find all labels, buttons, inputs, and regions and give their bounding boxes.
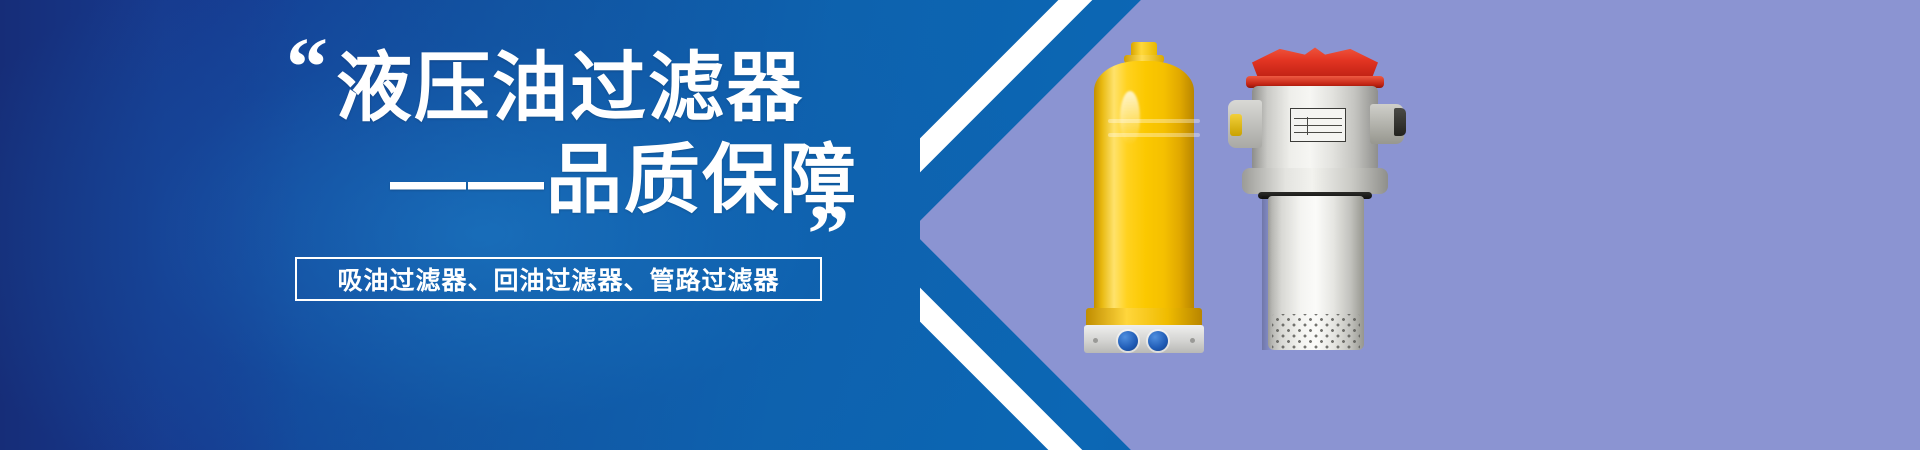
diamond-decoration (920, 0, 1920, 450)
yellow-filter-ring-lower (1108, 133, 1200, 137)
yellow-filter-port-1 (1118, 331, 1138, 351)
grey-filter-right-port-plug (1394, 108, 1406, 136)
quote-open-icon: “ (286, 26, 328, 110)
grey-filter-nameplate (1290, 108, 1346, 142)
headline-block: “ 液压油过滤器 ——品质保障 „ (280, 22, 880, 282)
headline-line-1: 液压油过滤器 (336, 48, 804, 130)
yellow-filter-body (1094, 61, 1194, 313)
yellow-filter-port-2 (1148, 331, 1168, 351)
grey-filter-mount-flange (1242, 168, 1388, 194)
yellow-filter-bolt-left (1093, 338, 1098, 343)
headline-line-2: ——品质保障 (390, 140, 858, 222)
product-image-yellow-hydraulic-filter (1084, 42, 1204, 350)
yellow-filter-mount-plate (1084, 325, 1204, 353)
yellow-filter-bolt-right (1190, 338, 1195, 343)
subtitle-box: 吸油过滤器、回油过滤器、管路过滤器 (295, 257, 822, 301)
product-image-grey-suction-filter (1228, 46, 1404, 350)
subtitle-text: 吸油过滤器、回油过滤器、管路过滤器 (337, 261, 779, 297)
quote-close-icon: „ (808, 150, 850, 234)
grey-filter-perforated-screen (1272, 314, 1360, 350)
promo-banner: “ 液压油过滤器 ——品质保障 „ 吸油过滤器、回油过滤器、管路过滤器 (0, 0, 1920, 450)
diamond-right-panel-fill (1400, 0, 1920, 450)
grey-filter-tube-shadow (1262, 196, 1272, 350)
yellow-filter-ring-upper (1108, 119, 1200, 123)
grey-filter-left-port-plug (1230, 114, 1242, 136)
